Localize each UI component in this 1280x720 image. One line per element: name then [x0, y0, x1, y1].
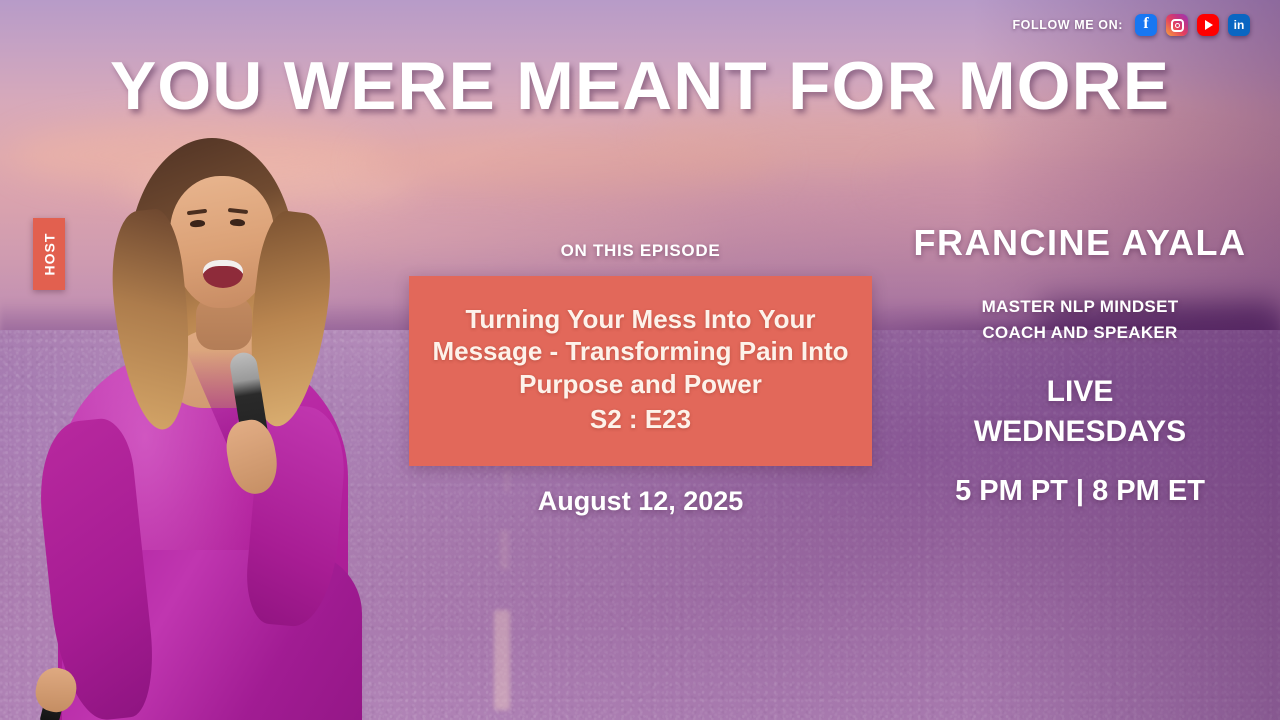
live-label: LIVE	[880, 372, 1280, 412]
episode-date: August 12, 2025	[409, 486, 872, 517]
episode-code: S2 : E23	[590, 404, 691, 435]
live-time: 5 PM PT | 8 PM ET	[880, 475, 1280, 508]
youtube-icon[interactable]	[1197, 14, 1219, 36]
linkedin-glyph: in	[1234, 19, 1245, 31]
speaker-name: FRANCINE AYALA	[880, 222, 1280, 264]
instagram-icon[interactable]	[1166, 14, 1188, 36]
mouth-shape	[203, 260, 243, 288]
speaker-role: MASTER NLP MINDSET COACH AND SPEAKER	[880, 294, 1280, 347]
host-badge: HOST	[33, 218, 65, 290]
follow-label: FOLLOW ME ON:	[1012, 18, 1123, 32]
host-badge-label: HOST	[41, 233, 57, 276]
speaker-role-line-1: MASTER NLP MINDSET	[880, 294, 1280, 320]
live-day: WEDNESDAYS	[880, 412, 1280, 452]
episode-eyebrow-label: ON THIS EPISODE	[409, 241, 872, 261]
instagram-lens	[1175, 23, 1180, 28]
speaker-role-line-2: COACH AND SPEAKER	[880, 320, 1280, 346]
linkedin-icon[interactable]: in	[1228, 14, 1250, 36]
host-photo	[20, 120, 365, 720]
page-title: YOU WERE MEANT FOR MORE	[0, 52, 1280, 120]
episode-title: Turning Your Mess Into Your Message - Tr…	[423, 303, 858, 400]
eye-shape	[230, 219, 245, 227]
instagram-glyph	[1171, 19, 1184, 32]
live-schedule: LIVE WEDNESDAYS	[880, 372, 1280, 452]
facebook-glyph: f	[1143, 16, 1148, 32]
facebook-icon[interactable]: f	[1135, 14, 1157, 36]
promo-graphic: HOST FOLLOW ME ON: f in YOU WERE MEANT F…	[0, 0, 1280, 720]
episode-info-box: Turning Your Mess Into Your Message - Tr…	[409, 276, 872, 466]
follow-bar: FOLLOW ME ON: f in	[1012, 14, 1250, 36]
youtube-play-glyph	[1205, 20, 1213, 30]
